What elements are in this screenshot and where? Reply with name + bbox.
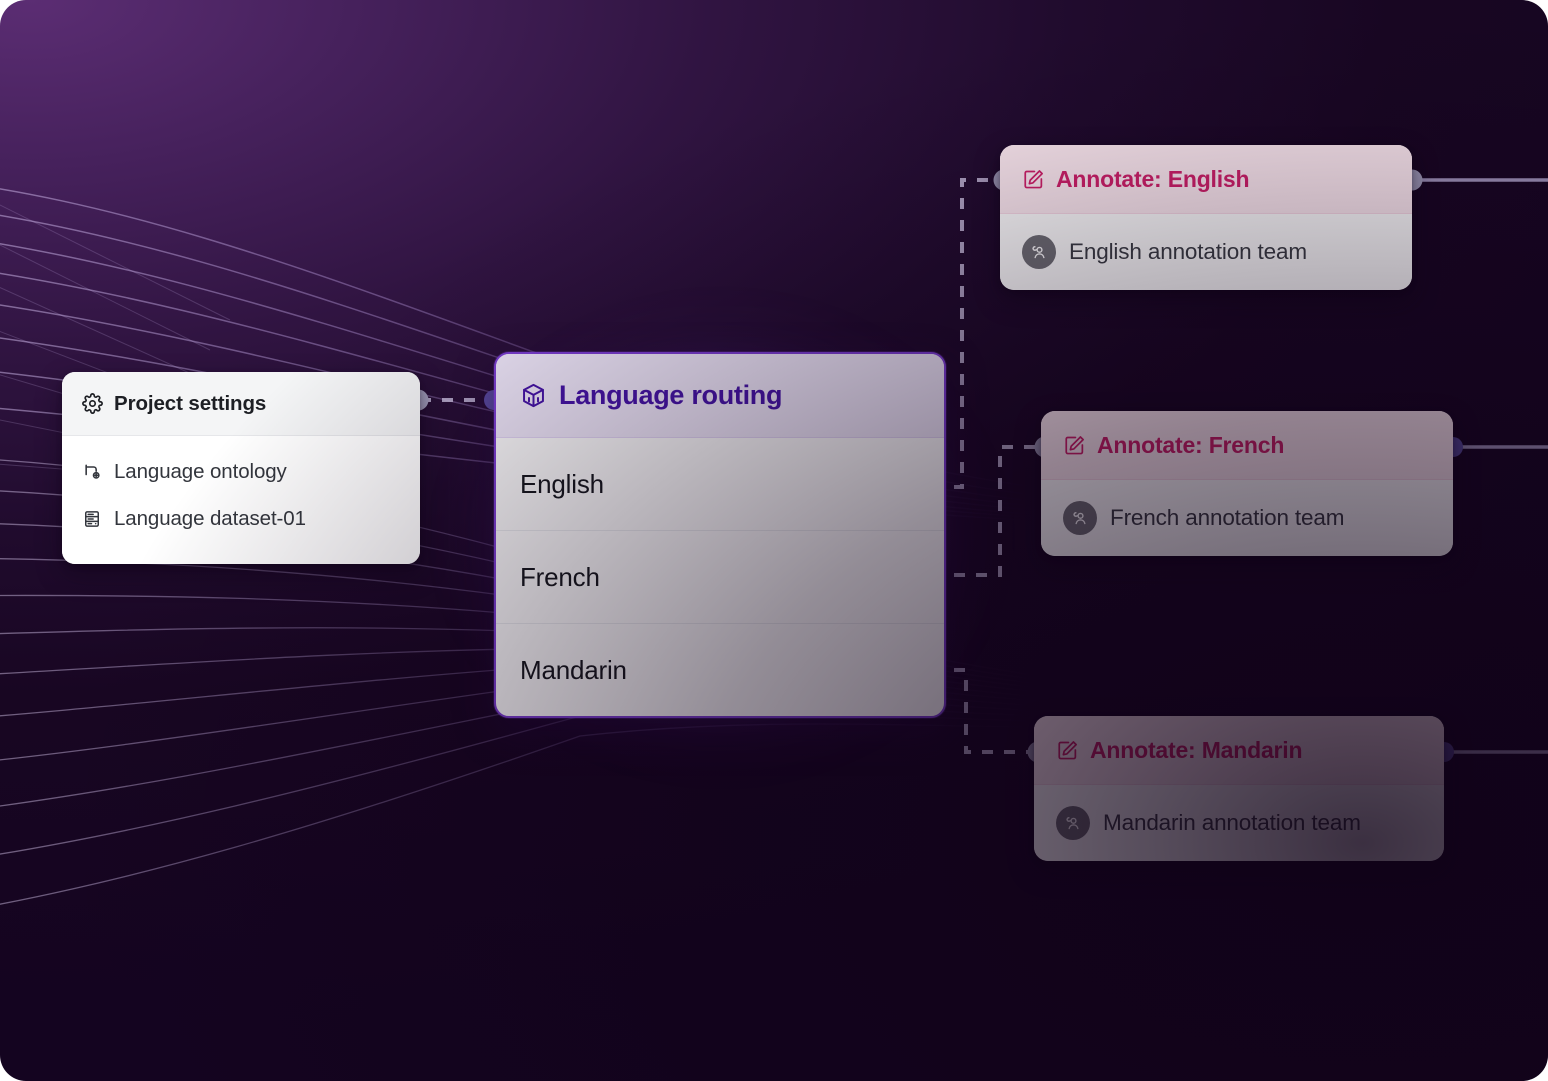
user-group-avatar-icon [1022,235,1056,269]
node-language-routing-header[interactable]: Language routing [496,354,944,438]
node-annotate-french[interactable]: Annotate: French French annotation team [1041,411,1453,556]
node-project-settings-title: Project settings [114,392,266,416]
edit-square-icon [1063,434,1086,457]
node-annotate-french-body: French annotation team [1041,480,1453,556]
node-annotate-mandarin-body: Mandarin annotation team [1034,785,1444,861]
edit-square-icon [1056,739,1079,762]
node-annotate-english-header[interactable]: Annotate: English [1000,145,1412,214]
node-project-settings-header[interactable]: Project settings [62,372,420,436]
edit-square-icon [1022,168,1045,191]
annotate-english-team-label: English annotation team [1069,239,1307,265]
settings-item-language-ontology[interactable]: Language ontology [82,448,400,495]
edge-mandarin [932,670,1034,752]
gear-icon [82,393,103,414]
node-annotate-english-title: Annotate: English [1056,166,1249,193]
node-annotate-english[interactable]: Annotate: English English annotation tea… [1000,145,1412,290]
node-project-settings-body: Language ontology Language dataset-01 [62,436,420,564]
workflow-canvas[interactable]: Project settings Language ontology [0,0,1548,1081]
router-option-english[interactable]: English [496,438,944,531]
settings-item-language-dataset[interactable]: Language dataset-01 [82,495,400,542]
node-annotate-mandarin[interactable]: Annotate: Mandarin Mandarin annotation t… [1034,716,1444,861]
database-icon [82,509,102,529]
router-option-mandarin[interactable]: Mandarin [496,624,944,716]
settings-item-label: Language dataset-01 [114,507,306,531]
node-annotate-french-title: Annotate: French [1097,432,1284,459]
annotate-mandarin-team-label: Mandarin annotation team [1103,810,1361,836]
node-annotate-mandarin-title: Annotate: Mandarin [1090,737,1302,764]
edge-french [932,447,1041,575]
node-annotate-english-body: English annotation team [1000,214,1412,290]
node-language-routing[interactable]: Language routing English French Mandarin [494,352,946,718]
node-annotate-mandarin-header[interactable]: Annotate: Mandarin [1034,716,1444,785]
node-annotate-french-header[interactable]: Annotate: French [1041,411,1453,480]
settings-item-label: Language ontology [114,460,287,484]
node-language-routing-title: Language routing [559,380,782,411]
node-project-settings[interactable]: Project settings Language ontology [62,372,420,564]
router-option-french[interactable]: French [496,531,944,624]
git-branch-plus-icon [82,462,102,482]
annotate-french-team-label: French annotation team [1110,505,1344,531]
user-group-avatar-icon [1063,501,1097,535]
cube-icon [520,382,547,409]
user-group-avatar-icon [1056,806,1090,840]
